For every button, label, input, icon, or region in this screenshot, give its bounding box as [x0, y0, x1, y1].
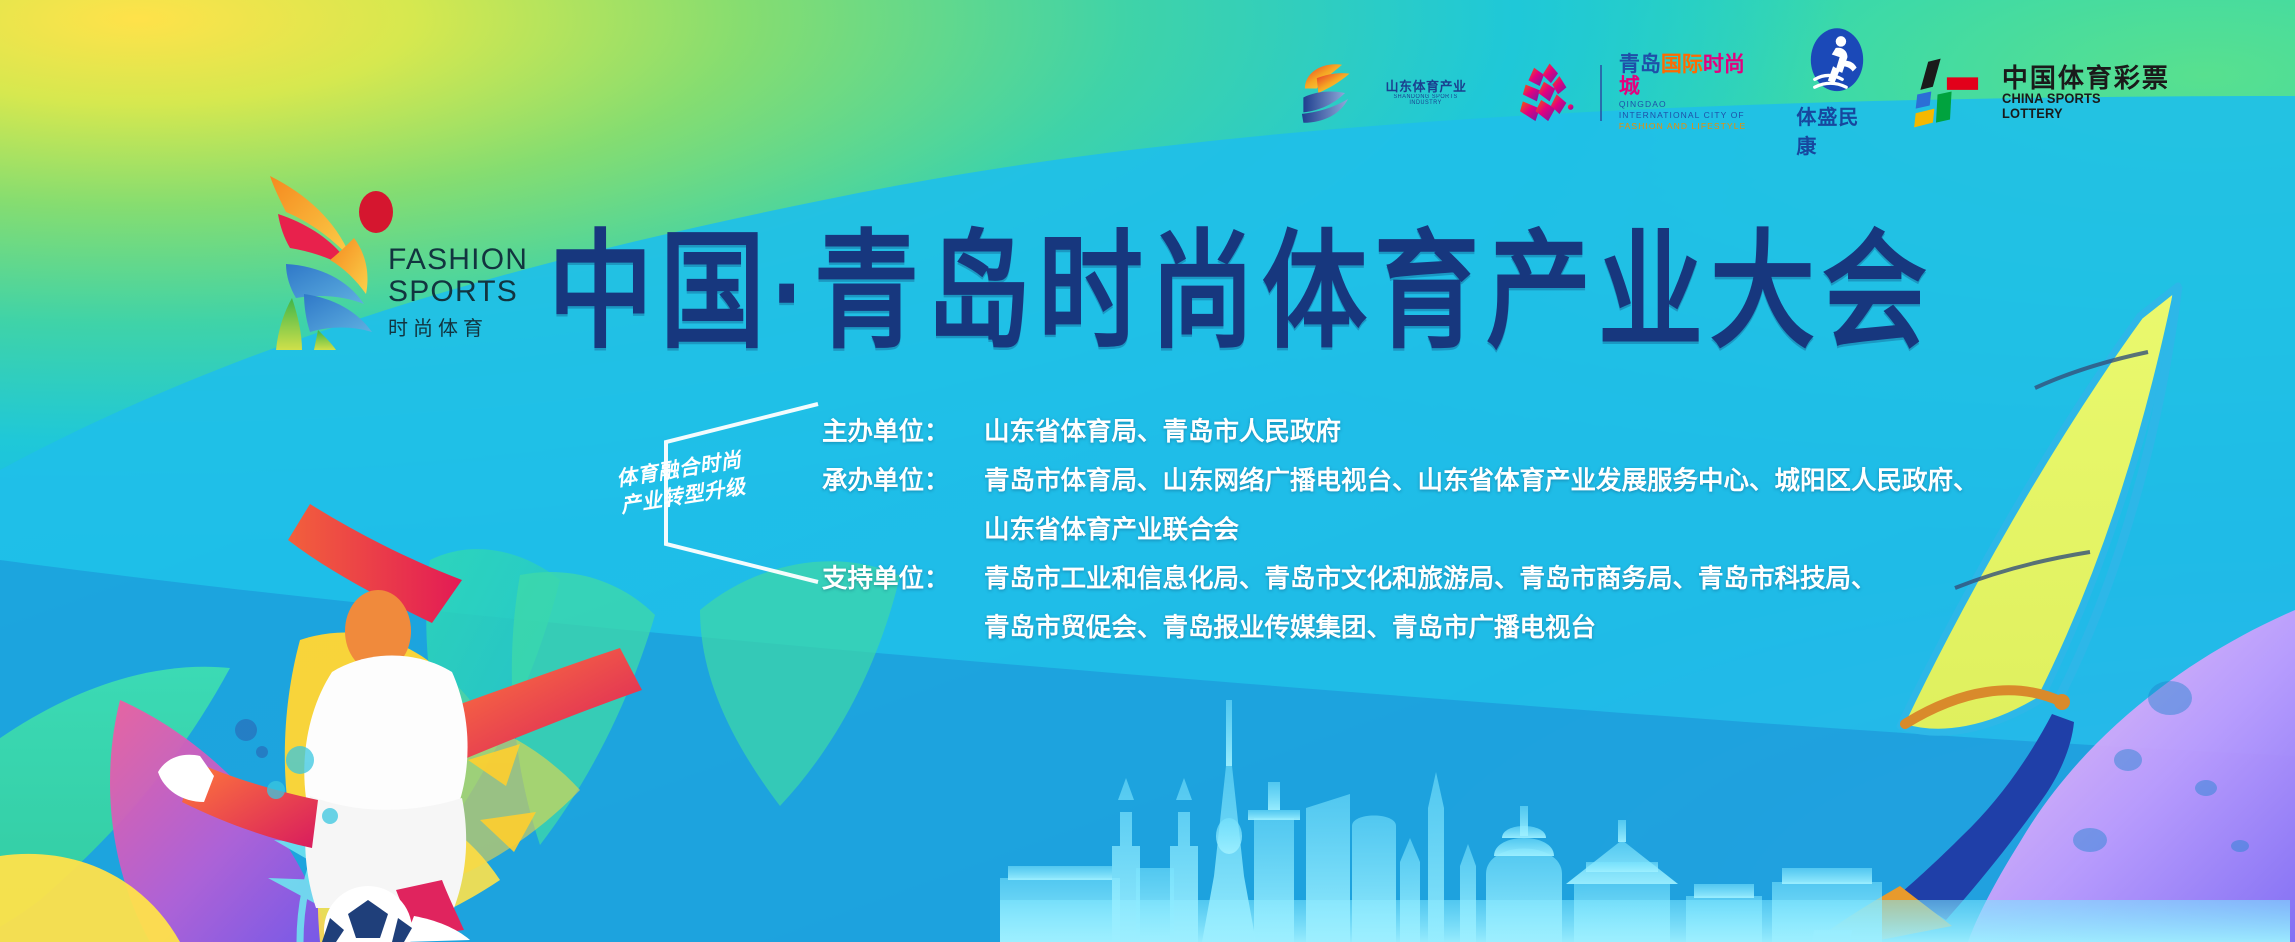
sponsor-name-cn: 中国体育彩票	[2002, 65, 2170, 93]
sponsor-qingdao-fashion-city: 青岛国际时尚城 QINGDAO INTERNATIONAL CITY OF FA…	[1513, 54, 1763, 132]
tishengminkang-icon	[1804, 27, 1870, 99]
qd-en-line2: INTERNATIONAL CITY OF	[1619, 110, 1763, 121]
event-poster: 山东体育产业 SHANDONG SPORTS INDUSTRY	[0, 0, 2295, 942]
sponsor-name-cn: 青岛国际时尚城	[1619, 54, 1763, 99]
sponsor-shandong-sports-industry: 山东体育产业 SHANDONG SPORTS INDUSTRY	[1290, 55, 1479, 131]
credit-value-organizer-line1: 青岛市体育局、山东网络广播电视台、山东省体育产业发展服务中心、城阳区人民政府、	[984, 457, 2082, 506]
page-title: 中国·青岛时尚体育产业大会	[548, 219, 1934, 365]
sponsor-logo-strip: 山东体育产业 SHANDONG SPORTS INDUSTRY	[1290, 38, 2170, 148]
fashion-sports-wordmark: FASHION SPORTS 时尚体育	[388, 244, 528, 341]
sponsor-name-en: CHINA SPORTS LOTTERY	[2002, 92, 2162, 121]
credit-row-supporter: 支持单位： 青岛市工业和信息化局、青岛市文化和旅游局、青岛市商务局、青岛市科技局…	[822, 555, 2082, 604]
qingdao-fashion-city-icon	[1513, 55, 1583, 131]
credit-label-host: 主办单位：	[822, 408, 984, 457]
credit-row-host: 主办单位： 山东省体育局、青岛市人民政府	[822, 408, 2082, 457]
sponsor-name-cn: 山东体育产业	[1373, 80, 1478, 94]
qd-en-line1: QINGDAO	[1619, 99, 1763, 110]
sponsor-name-en: SHANDONG SPORTS INDUSTRY	[1378, 94, 1475, 107]
credits-block: 主办单位： 山东省体育局、青岛市人民政府 承办单位： 青岛市体育局、山东网络广播…	[822, 408, 2082, 653]
sponsor-tishengminkang: 体盛民康	[1796, 27, 1878, 159]
sponsor-china-sports-lottery: 中国体育彩票 CHINA SPORTS LOTTERY	[1913, 54, 2170, 132]
sponsor-name-en: QINGDAO INTERNATIONAL CITY OF FASHION AN…	[1619, 99, 1763, 132]
qd-cn-part1: 青岛	[1619, 53, 1661, 76]
sponsor-name-cn: 体盛民康	[1796, 101, 1878, 159]
credit-value-supporter-line2: 青岛市贸促会、青岛报业传媒集团、青岛市广播电视台	[822, 604, 2082, 653]
qd-en-line3: FASHION AND LIFESTYLE	[1619, 121, 1763, 132]
credit-label-organizer: 承办单位：	[822, 457, 984, 506]
credit-row-organizer: 承办单位： 青岛市体育局、山东网络广播电视台、山东省体育产业发展服务中心、城阳区…	[822, 457, 2082, 506]
credit-label-supporter: 支持单位：	[822, 555, 984, 604]
credit-value-host: 山东省体育局、青岛市人民政府	[984, 408, 2082, 457]
fashion-sports-line1: FASHION	[388, 244, 528, 276]
shandong-sports-industry-icon	[1290, 55, 1364, 131]
credit-value-supporter-line1: 青岛市工业和信息化局、青岛市文化和旅游局、青岛市商务局、青岛市科技局、	[984, 555, 2082, 604]
credit-value-organizer-line2: 山东省体育产业联合会	[822, 506, 2082, 555]
divider	[1600, 65, 1602, 121]
slogan-block: 体育融合时尚 产业转型升级	[608, 398, 828, 588]
qd-cn-part2: 国际	[1661, 53, 1703, 76]
fashion-sports-line2: SPORTS	[388, 276, 528, 308]
china-sports-lottery-icon	[1913, 54, 1993, 132]
fashion-sports-line3: 时尚体育	[388, 312, 528, 341]
